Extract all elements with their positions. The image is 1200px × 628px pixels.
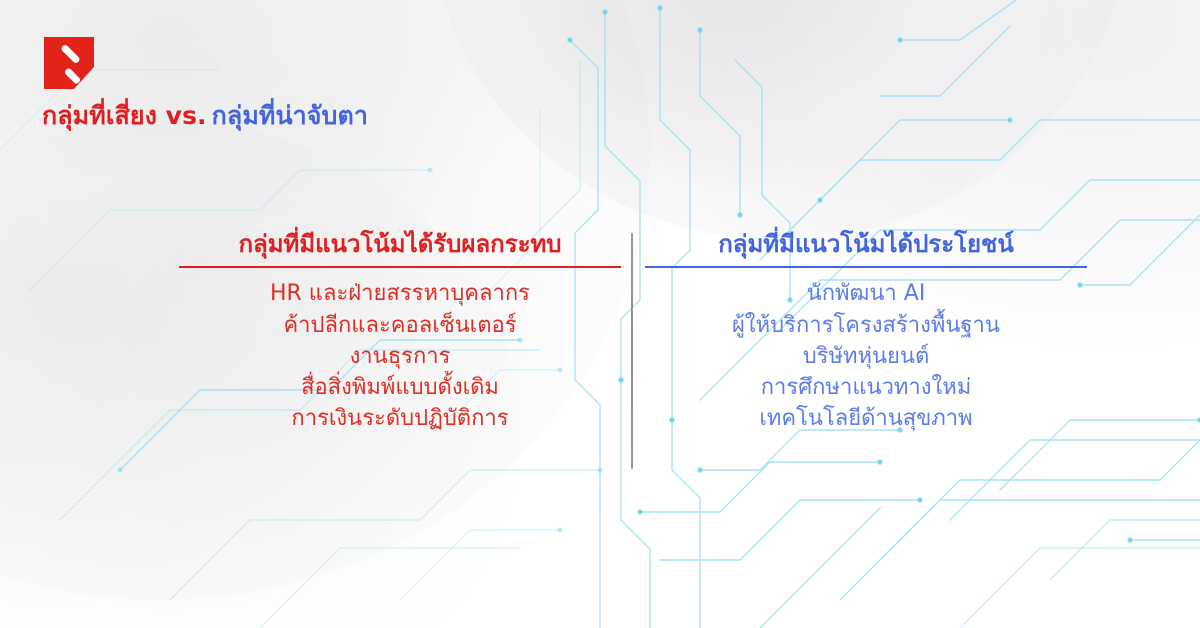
- column-left-heading: กลุ่มที่มีแนวโน้มได้รับผลกระทบ: [179, 228, 621, 260]
- brand-logo-icon: [44, 37, 94, 89]
- list-item: การเงินระดับปฏิบัติการ: [179, 403, 621, 434]
- page-title: กลุ่มที่เสี่ยง vs.กลุ่มที่น่าจับตา: [42, 100, 368, 131]
- list-item: เทคโนโลยีด้านสุขภาพ: [645, 403, 1087, 434]
- list-item: ค้าปลีกและคอลเซ็นเตอร์: [179, 310, 621, 341]
- list-item: งานธุรการ: [179, 341, 621, 372]
- list-item: ผู้ให้บริการโครงสร้างพื้นฐาน: [645, 310, 1087, 341]
- list-item: HR และฝ่ายสรรหาบุคลากร: [179, 278, 621, 309]
- column-divider: [631, 233, 633, 469]
- column-right-heading: กลุ่มที่มีแนวโน้มได้ประโยชน์: [645, 228, 1087, 260]
- list-item: การศึกษาแนวทางใหม่: [645, 372, 1087, 403]
- column-impacted: กลุ่มที่มีแนวโน้มได้รับผลกระทบ HR และฝ่า…: [179, 228, 621, 435]
- infographic-canvas: กลุ่มที่เสี่ยง vs.กลุ่มที่น่าจับตา กลุ่ม…: [0, 0, 1200, 628]
- list-item: นักพัฒนา AI: [645, 278, 1087, 309]
- list-item: บริษัทหุ่นยนต์: [645, 341, 1087, 372]
- column-beneficiary: กลุ่มที่มีแนวโน้มได้ประโยชน์ นักพัฒนา AI…: [645, 228, 1087, 435]
- column-left-list: HR และฝ่ายสรรหาบุคลากร ค้าปลีกและคอลเซ็น…: [179, 268, 621, 434]
- column-right-list: นักพัฒนา AI ผู้ให้บริการโครงสร้างพื้นฐาน…: [645, 268, 1087, 434]
- list-item: สื่อสิ่งพิมพ์แบบดั้งเดิม: [179, 372, 621, 403]
- page-title-red: กลุ่มที่เสี่ยง vs.: [42, 101, 207, 130]
- page-title-blue: กลุ่มที่น่าจับตา: [212, 101, 368, 130]
